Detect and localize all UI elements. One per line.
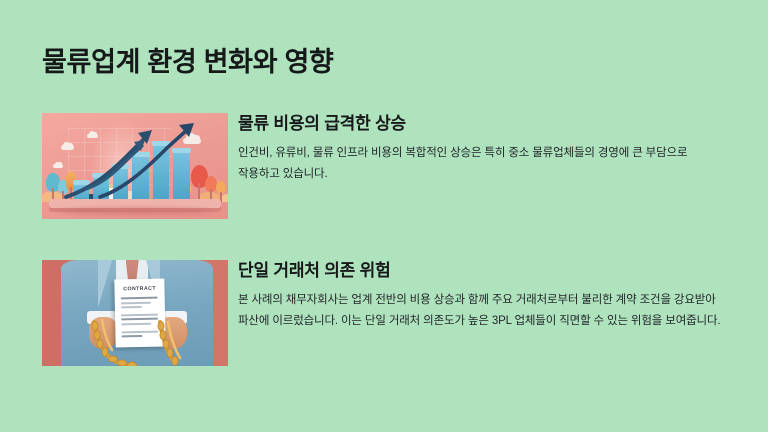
contract-chains-photo: CONTRACT: [42, 260, 228, 366]
ground-shadow: [57, 207, 213, 215]
section-body: 단일 거래처 의존 위험 본 사례의 채무자회사는 업계 전반의 비용 상승과 …: [238, 260, 724, 331]
chain-icon: [42, 260, 228, 366]
slide-root: 물류업계 환경 변화와 영향: [0, 0, 768, 432]
section-paragraph: 인건비, 유류비, 물류 인프라 비용의 복합적인 상승은 특히 중소 물류업체…: [238, 143, 724, 184]
section-logistics-cost-surge: 물류 비용의 급격한 상승 인건비, 유류비, 물류 인프라 비용의 복합적인 …: [42, 113, 732, 219]
section-body: 물류 비용의 급격한 상승 인건비, 유류비, 물류 인프라 비용의 복합적인 …: [238, 113, 724, 184]
page-title: 물류업계 환경 변화와 영향: [42, 46, 334, 80]
contract-photo-canvas: CONTRACT: [42, 260, 228, 366]
growth-chart-canvas: [42, 113, 228, 219]
section-paragraph: 본 사례의 채무자회사는 업계 전반의 비용 상승과 함께 주요 거래처로부터 …: [238, 290, 724, 331]
section-heading: 물류 비용의 급격한 상승: [238, 113, 724, 135]
growth-chart-illustration: [42, 113, 228, 219]
section-single-client-dependency-risk: CONTRACT: [42, 260, 732, 366]
section-heading: 단일 거래처 의존 위험: [238, 260, 724, 282]
